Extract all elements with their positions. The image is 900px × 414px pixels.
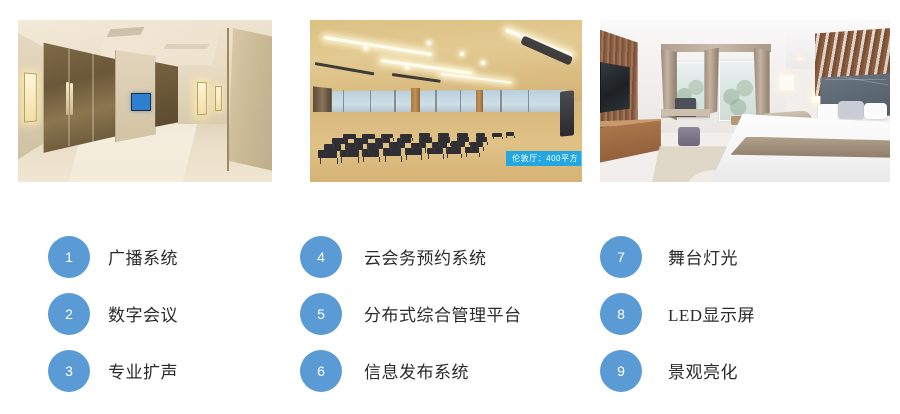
feature-list: 1 广播系统 2 数字会议 3 专业扩声 4 云会务预约系统 5 分布式综合管理… <box>0 200 900 414</box>
list-item[interactable]: 3 专业扩声 <box>48 342 338 399</box>
list-item[interactable]: 4 云会务预约系统 <box>300 228 590 285</box>
wall-sconce-icon <box>24 73 37 123</box>
list-item-number-badge: 7 <box>600 236 642 278</box>
list-item-label: LED显示屏 <box>668 301 755 326</box>
guest-room-scene <box>600 20 890 182</box>
floor-lamp-icon <box>780 75 795 90</box>
bed-cushion <box>838 101 864 119</box>
feature-column-3: 7 舞台灯光 8 LED显示屏 9 景观亮化 <box>600 200 890 399</box>
list-item-label: 数字会议 <box>108 301 178 326</box>
downlight-icon <box>481 61 485 65</box>
ottoman-stool <box>678 127 700 146</box>
elevator-door-seam <box>92 49 94 146</box>
elevator-handle <box>70 83 73 115</box>
seating-rows <box>310 107 582 182</box>
wall-mounted-tv <box>600 62 630 113</box>
window-curtain <box>704 48 719 116</box>
list-item-label: 景观亮化 <box>668 358 738 383</box>
list-item-number-badge: 4 <box>300 236 342 278</box>
list-item-number-badge: 9 <box>600 350 642 392</box>
list-item[interactable]: 7 舞台灯光 <box>600 228 890 285</box>
list-item-number-badge: 8 <box>600 293 642 335</box>
information-display-screen <box>131 93 151 111</box>
list-item[interactable]: 9 景观亮化 <box>600 342 890 399</box>
column-edge <box>227 28 229 171</box>
list-item[interactable]: 1 广播系统 <box>48 228 338 285</box>
elevator-bank <box>43 43 120 153</box>
list-item-number-badge: 1 <box>48 236 90 278</box>
list-item-number-badge: 2 <box>48 293 90 335</box>
list-item-number-badge: 5 <box>300 293 342 335</box>
gallery-image-conference-hall[interactable]: 伦敦厅：400平方 <box>310 20 582 182</box>
list-item-label: 广播系统 <box>108 244 178 269</box>
wall-sconce-icon <box>197 81 206 114</box>
list-item[interactable]: 2 数字会议 <box>48 285 338 342</box>
list-item-label: 分布式综合管理平台 <box>364 301 522 326</box>
list-item[interactable]: 8 LED显示屏 <box>600 285 890 342</box>
conference-hall-scene: 伦敦厅：400平方 <box>310 20 582 182</box>
window-view-foliage <box>720 62 758 120</box>
list-item-number-badge: 6 <box>300 350 342 392</box>
list-item-label: 信息发布系统 <box>364 358 469 383</box>
list-item-number-badge: 3 <box>48 350 90 392</box>
list-item[interactable]: 6 信息发布系统 <box>300 342 590 399</box>
hall-ceiling <box>310 20 582 101</box>
window-curtain <box>754 48 770 121</box>
hall-caption-badge: 伦敦厅：400平方 <box>506 151 582 166</box>
image-gallery: 伦敦厅：400平方 <box>0 0 900 200</box>
bed-pillow <box>864 103 887 119</box>
list-item[interactable]: 5 分布式综合管理平台 <box>300 285 590 342</box>
elevator-lobby-scene <box>18 20 272 182</box>
feature-column-1: 1 广播系统 2 数字会议 3 专业扩声 <box>48 200 338 399</box>
gallery-image-guest-room[interactable] <box>600 20 890 182</box>
work-desk <box>661 109 710 115</box>
right-marble-column <box>228 28 272 171</box>
list-item-label: 舞台灯光 <box>668 244 738 269</box>
gallery-image-elevator-lobby[interactable] <box>18 20 272 182</box>
list-item-label: 专业扩声 <box>108 358 178 383</box>
list-item-label: 云会务预约系统 <box>364 244 487 269</box>
far-elevator <box>155 62 178 127</box>
feature-column-2: 4 云会务预约系统 5 分布式综合管理平台 6 信息发布系统 <box>300 200 590 399</box>
room-window <box>719 61 759 121</box>
downlight-icon <box>427 41 431 45</box>
wall-sconce-icon <box>215 86 222 111</box>
